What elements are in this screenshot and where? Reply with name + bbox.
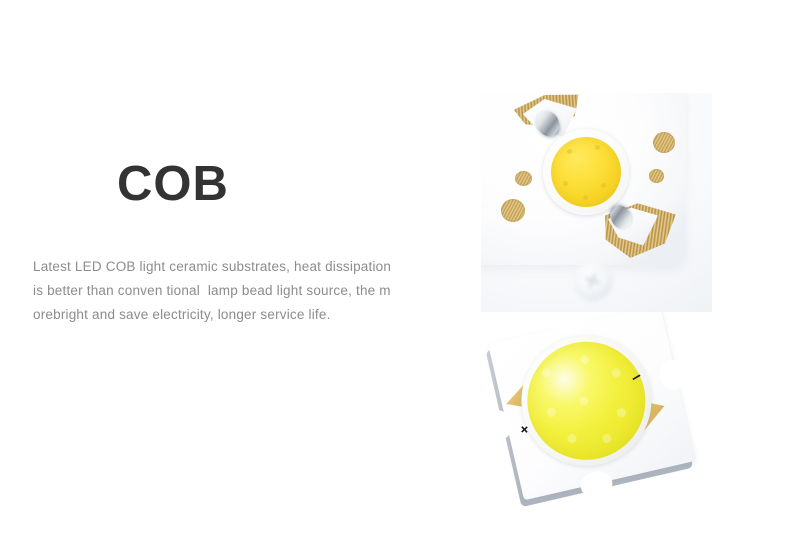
description-line-3: orebright and save electricity, longer s… [33,303,463,327]
gold-pad-icon [653,132,675,153]
page-title: COB [117,160,463,209]
description-line-1: Latest LED COB light ceramic substrates,… [33,255,463,279]
gold-pad-icon [649,169,664,183]
blurred-screw-foreground [573,261,613,301]
gold-pad-icon [501,199,525,222]
chip-body: + – [481,312,711,508]
description-line-2: is better than conven tional lamp bead l… [33,279,463,303]
gold-pad-icon [515,171,532,186]
product-banner: COB Latest LED COB light ceramic substra… [0,0,790,538]
phosphor-emitter [551,137,621,207]
round-cob-led-module-photo [481,93,712,317]
description-text: Latest LED COB light ceramic substrates,… [33,255,463,327]
text-column: COB Latest LED COB light ceramic substra… [33,160,463,327]
square-cob-led-chip-photo: + – [481,312,712,508]
